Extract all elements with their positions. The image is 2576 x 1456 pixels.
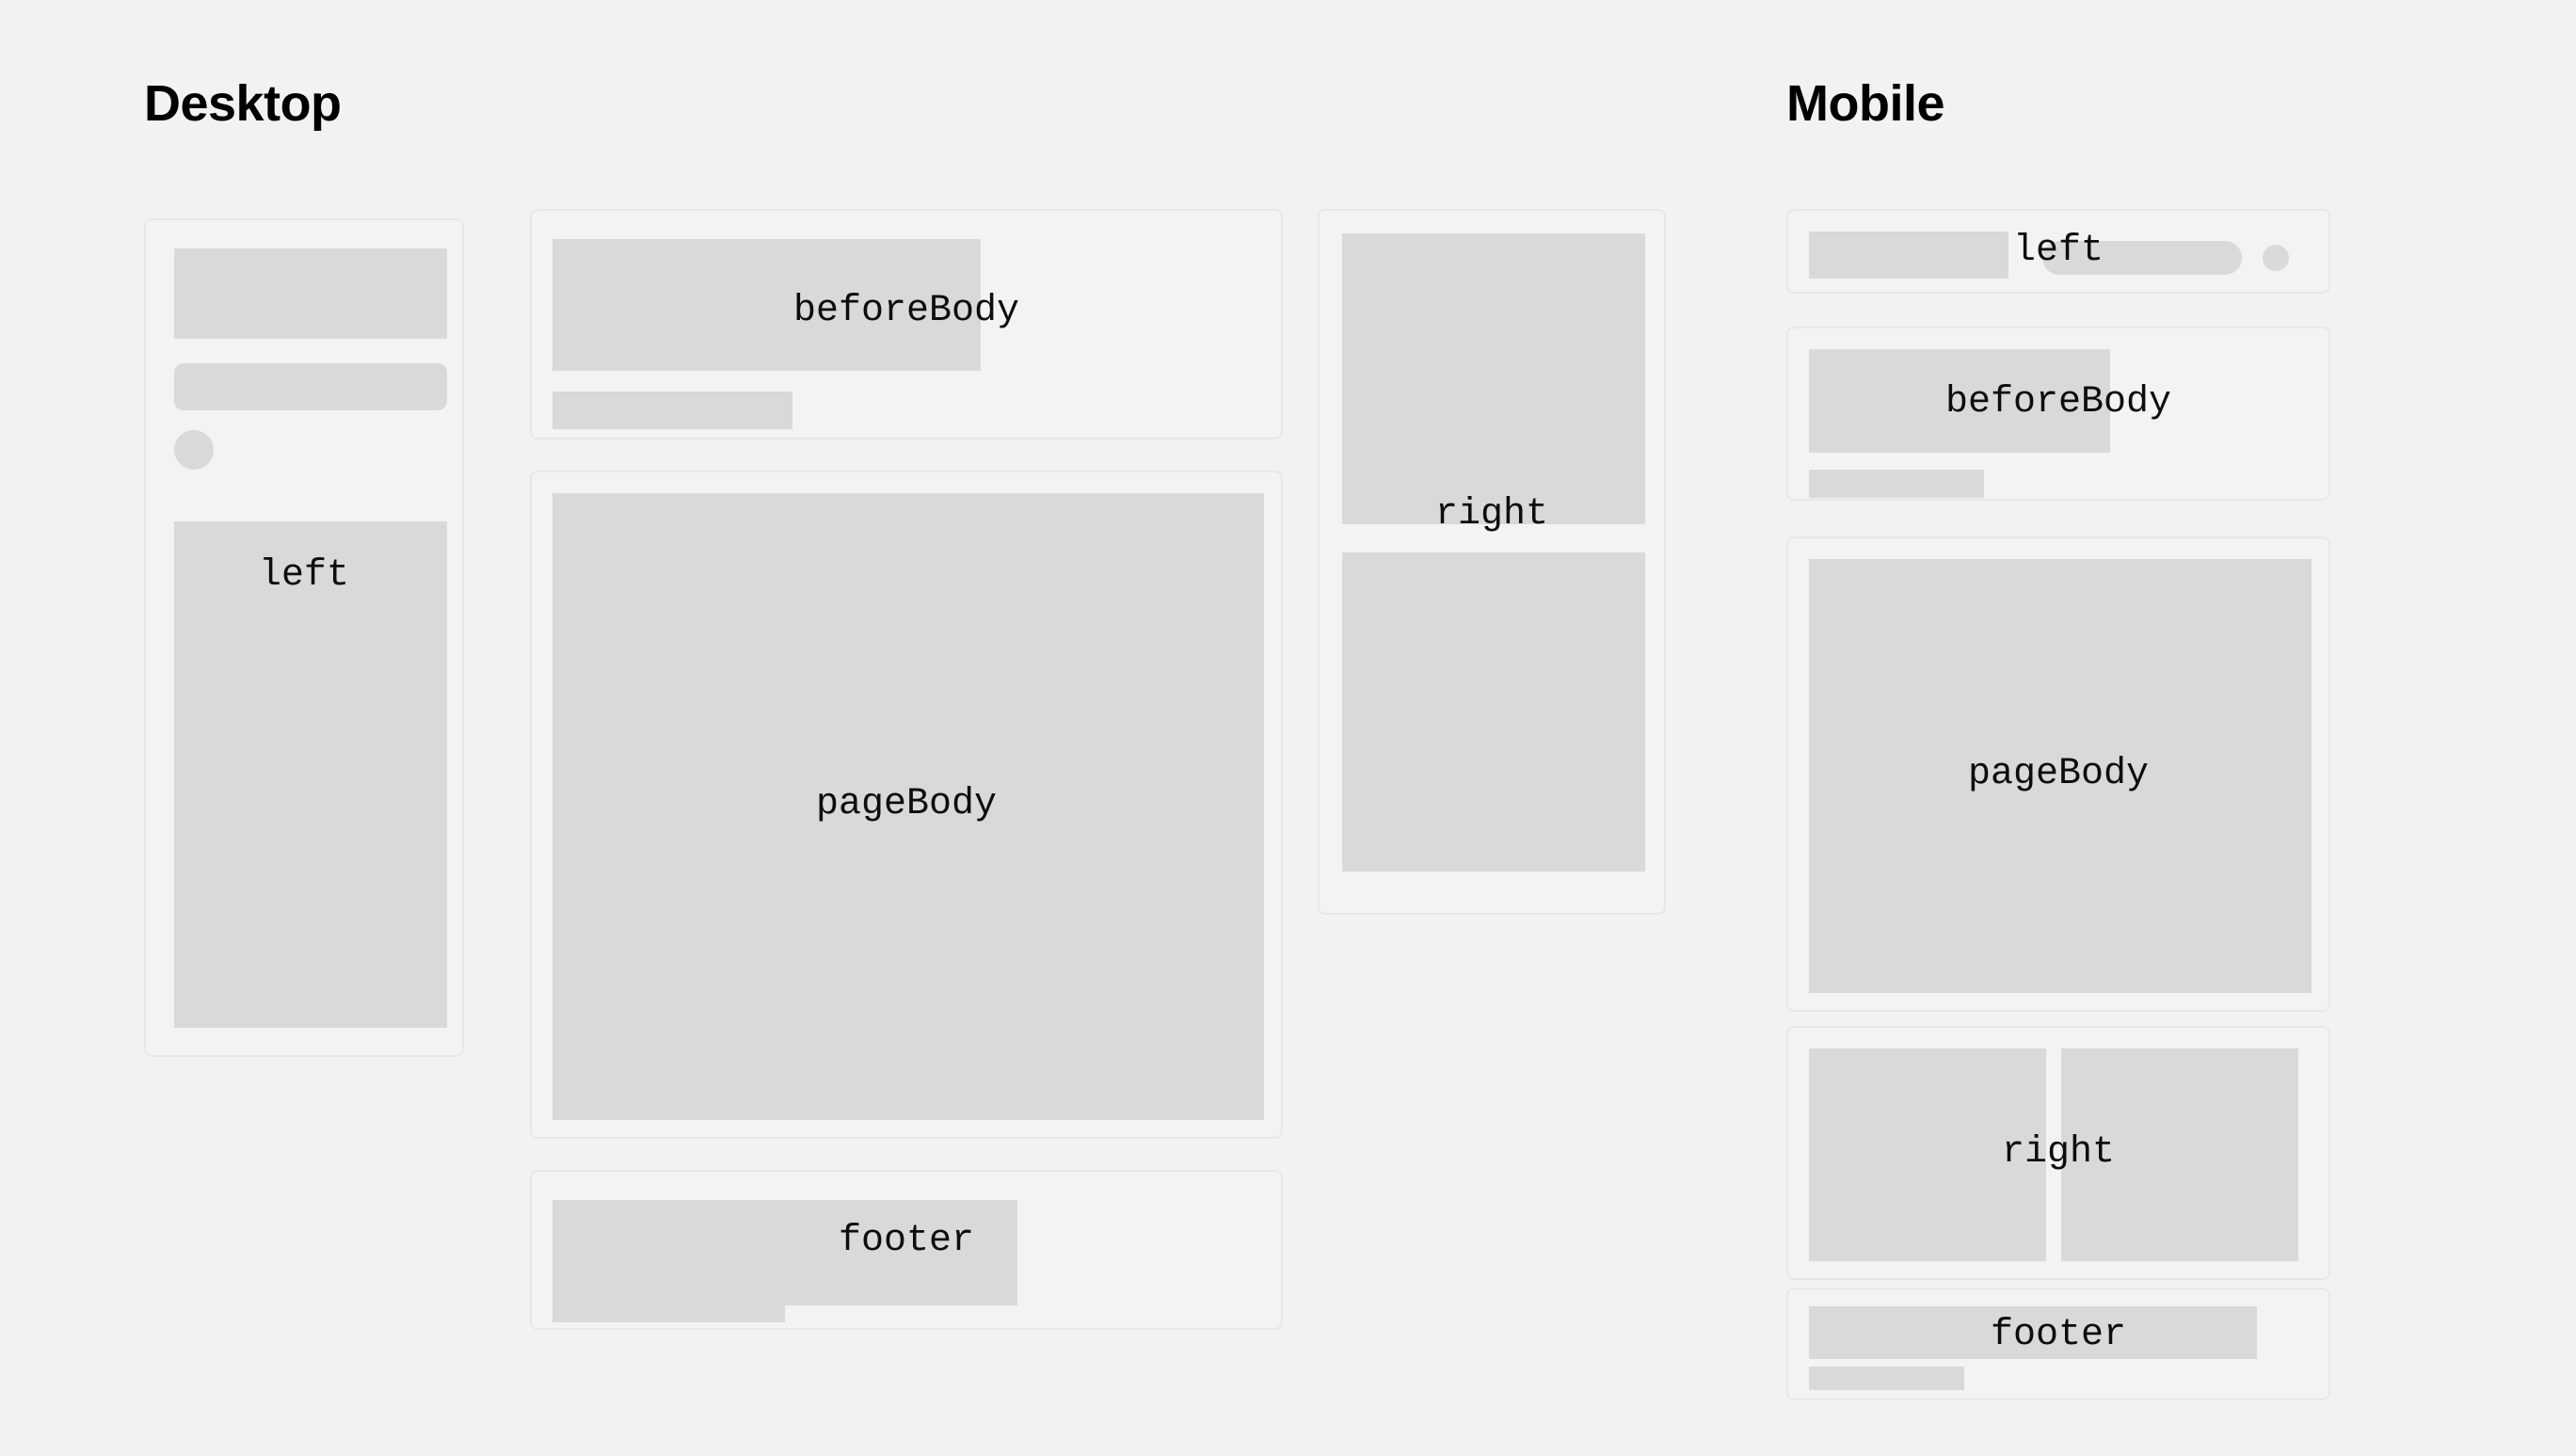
desktop-pagebody-block-main — [552, 493, 1264, 1120]
desktop-left-block-header — [174, 248, 447, 339]
mobile-slot-beforebody-panel[interactable] — [1786, 327, 2330, 501]
desktop-footer-block-secondary — [552, 1285, 785, 1322]
mobile-slot-left-panel[interactable] — [1786, 209, 2330, 294]
wireframe-stage: Desktop left beforeBody pageBody footer … — [0, 0, 2576, 1456]
desktop-beforebody-block-secondary — [552, 392, 792, 429]
desktop-beforebody-block-primary — [552, 239, 981, 371]
desktop-slot-pagebody-panel[interactable] — [530, 471, 1283, 1139]
desktop-left-block-body — [174, 521, 447, 1028]
desktop-right-block-bottom — [1342, 552, 1645, 872]
mobile-slot-footer-panel[interactable] — [1786, 1288, 2330, 1400]
desktop-left-block-subheader — [174, 363, 447, 410]
mobile-beforebody-block-primary — [1809, 349, 2110, 453]
mobile-left-block-subheader — [2042, 241, 2242, 275]
desktop-slot-left-panel[interactable] — [144, 218, 464, 1057]
mobile-beforebody-block-secondary — [1809, 470, 1984, 498]
mobile-right-block-right — [2061, 1048, 2298, 1261]
desktop-slot-right-panel[interactable] — [1318, 209, 1666, 915]
mobile-pagebody-block-main — [1809, 559, 2312, 993]
mobile-slot-pagebody-panel[interactable] — [1786, 536, 2330, 1012]
desktop-right-block-top — [1342, 233, 1645, 524]
mobile-footer-block-primary — [1809, 1306, 2257, 1359]
mobile-left-block-avatar — [2263, 245, 2289, 271]
desktop-left-block-avatar — [174, 430, 214, 470]
desktop-slot-beforebody-panel[interactable] — [530, 209, 1283, 440]
mobile-slot-right-panel[interactable] — [1786, 1026, 2330, 1280]
mobile-section-title: Mobile — [1786, 78, 1944, 129]
mobile-left-block-header — [1809, 232, 2008, 279]
mobile-footer-block-secondary — [1809, 1367, 1964, 1390]
desktop-slot-footer-panel[interactable] — [530, 1170, 1283, 1330]
mobile-right-block-left — [1809, 1048, 2046, 1261]
desktop-section-title: Desktop — [144, 78, 342, 129]
